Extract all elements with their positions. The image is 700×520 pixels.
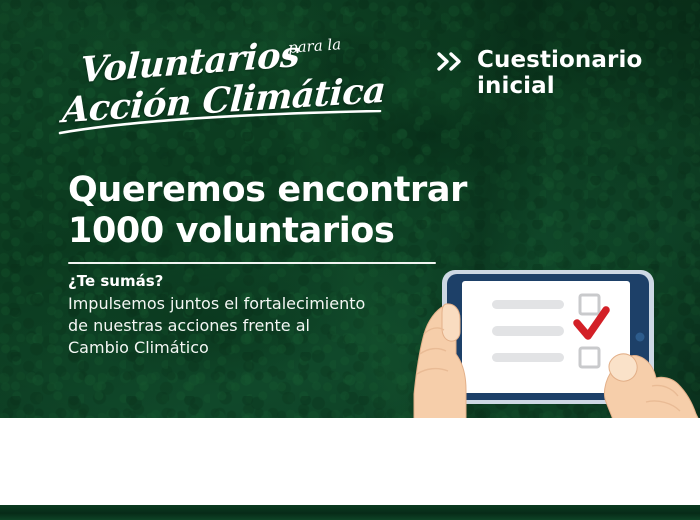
body-paragraph: Impulsemos juntos el fortalecimiento de …: [68, 293, 448, 359]
brand-connector-para-la: para la: [287, 35, 341, 57]
call-to-action-question: ¿Te sumás?: [68, 272, 163, 290]
questionnaire-label: Cuestionario inicial: [477, 48, 642, 100]
tablet-screen: [462, 281, 630, 393]
brand-lockup: Voluntarios para la Acción Climática: [62, 22, 392, 126]
thumb: [442, 304, 460, 341]
body-paragraph-line3: Cambio Climático: [68, 337, 448, 359]
brand-underline-swoosh: [58, 110, 398, 136]
questionnaire-label-line1: Cuestionario: [477, 48, 642, 74]
tablet-camera-dot: [636, 333, 645, 342]
placeholder-bar: [492, 326, 564, 336]
headline-line2: 1000 voluntarios: [68, 211, 588, 252]
double-chevron-right-icon: [437, 52, 464, 71]
questionnaire-header: Cuestionario inicial: [437, 48, 642, 100]
headline-divider-rule: [68, 262, 436, 264]
poster-canvas: Voluntarios para la Acción Climática Cue…: [0, 0, 700, 520]
checkbox-empty[interactable]: [580, 295, 599, 314]
tablet-checklist-illustration: [400, 262, 700, 422]
body-paragraph-line2: de nuestras acciones frente al: [68, 315, 448, 337]
questionnaire-label-line2: inicial: [477, 74, 642, 100]
placeholder-bar: [492, 353, 564, 362]
index-fingertip: [609, 354, 637, 381]
checkbox-empty[interactable]: [580, 348, 599, 367]
placeholder-bar: [492, 300, 564, 309]
footer-band: COMUNA San Carlos Sud RED ARGENTINA DE M…: [0, 418, 700, 505]
holding-hand: [414, 304, 466, 422]
body-paragraph-line1: Impulsemos juntos el fortalecimiento: [68, 293, 448, 315]
bottom-green-strip: [0, 505, 700, 520]
headline: Queremos encontrar 1000 voluntarios: [68, 170, 588, 252]
headline-line1: Queremos encontrar: [68, 170, 588, 211]
